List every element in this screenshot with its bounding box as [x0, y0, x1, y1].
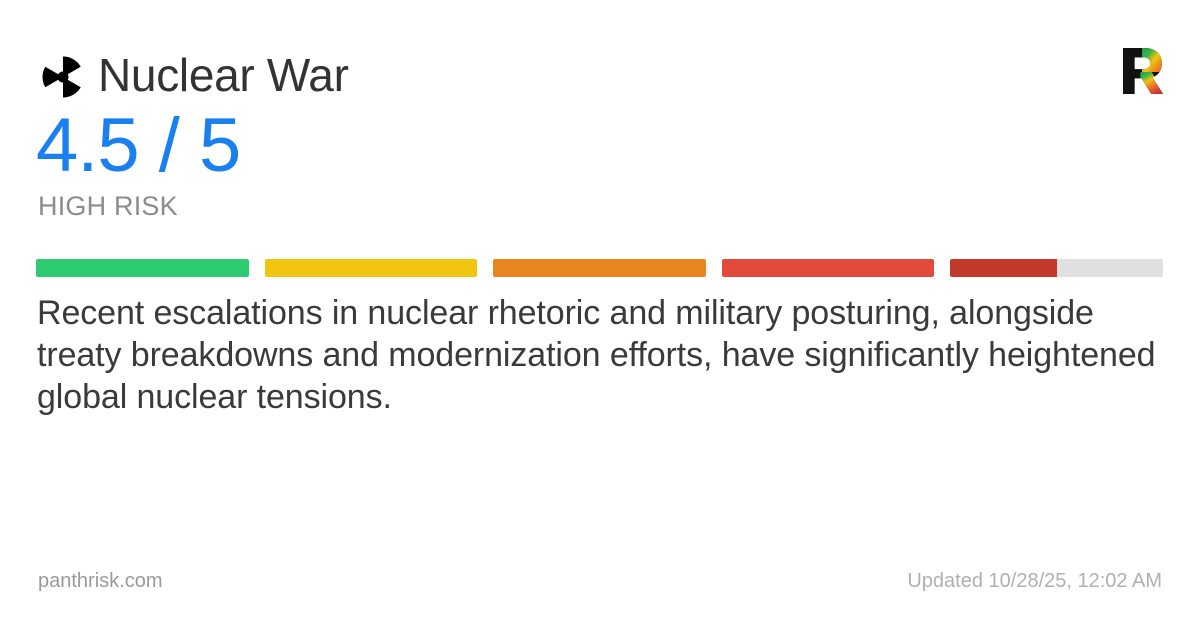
- meter-segment-low: [36, 259, 249, 277]
- meter-segment-moderate: [265, 259, 478, 277]
- meter-segment-elevated: [493, 259, 706, 277]
- risk-level-label: HIGH RISK: [38, 193, 178, 220]
- radiation-trefoil-icon: [38, 52, 88, 102]
- panthrisk-r-logo-icon: [1120, 46, 1164, 96]
- meter-segment-low-fill: [36, 259, 249, 277]
- page-title: Nuclear War: [98, 52, 349, 98]
- risk-summary-card: Nuclear War: [0, 0, 1200, 630]
- score-value: 4.5 / 5: [36, 108, 240, 184]
- meter-segment-high: [722, 259, 935, 277]
- meter-segment-moderate-fill: [265, 259, 478, 277]
- site-name: panthrisk.com: [38, 571, 163, 591]
- risk-description: Recent escalations in nuclear rhetoric a…: [37, 292, 1165, 418]
- meter-segment-high-fill: [722, 259, 935, 277]
- meter-segment-severe-fill: [950, 259, 1056, 277]
- risk-meter: [36, 259, 1163, 277]
- card-footer: panthrisk.com Updated 10/28/25, 12:02 AM: [38, 568, 1162, 594]
- title-group: Nuclear War: [38, 44, 349, 106]
- meter-segment-elevated-fill: [493, 259, 706, 277]
- last-updated-text: Updated 10/28/25, 12:02 AM: [907, 571, 1162, 591]
- meter-segment-severe: [950, 259, 1163, 277]
- card-header: Nuclear War: [38, 44, 1164, 112]
